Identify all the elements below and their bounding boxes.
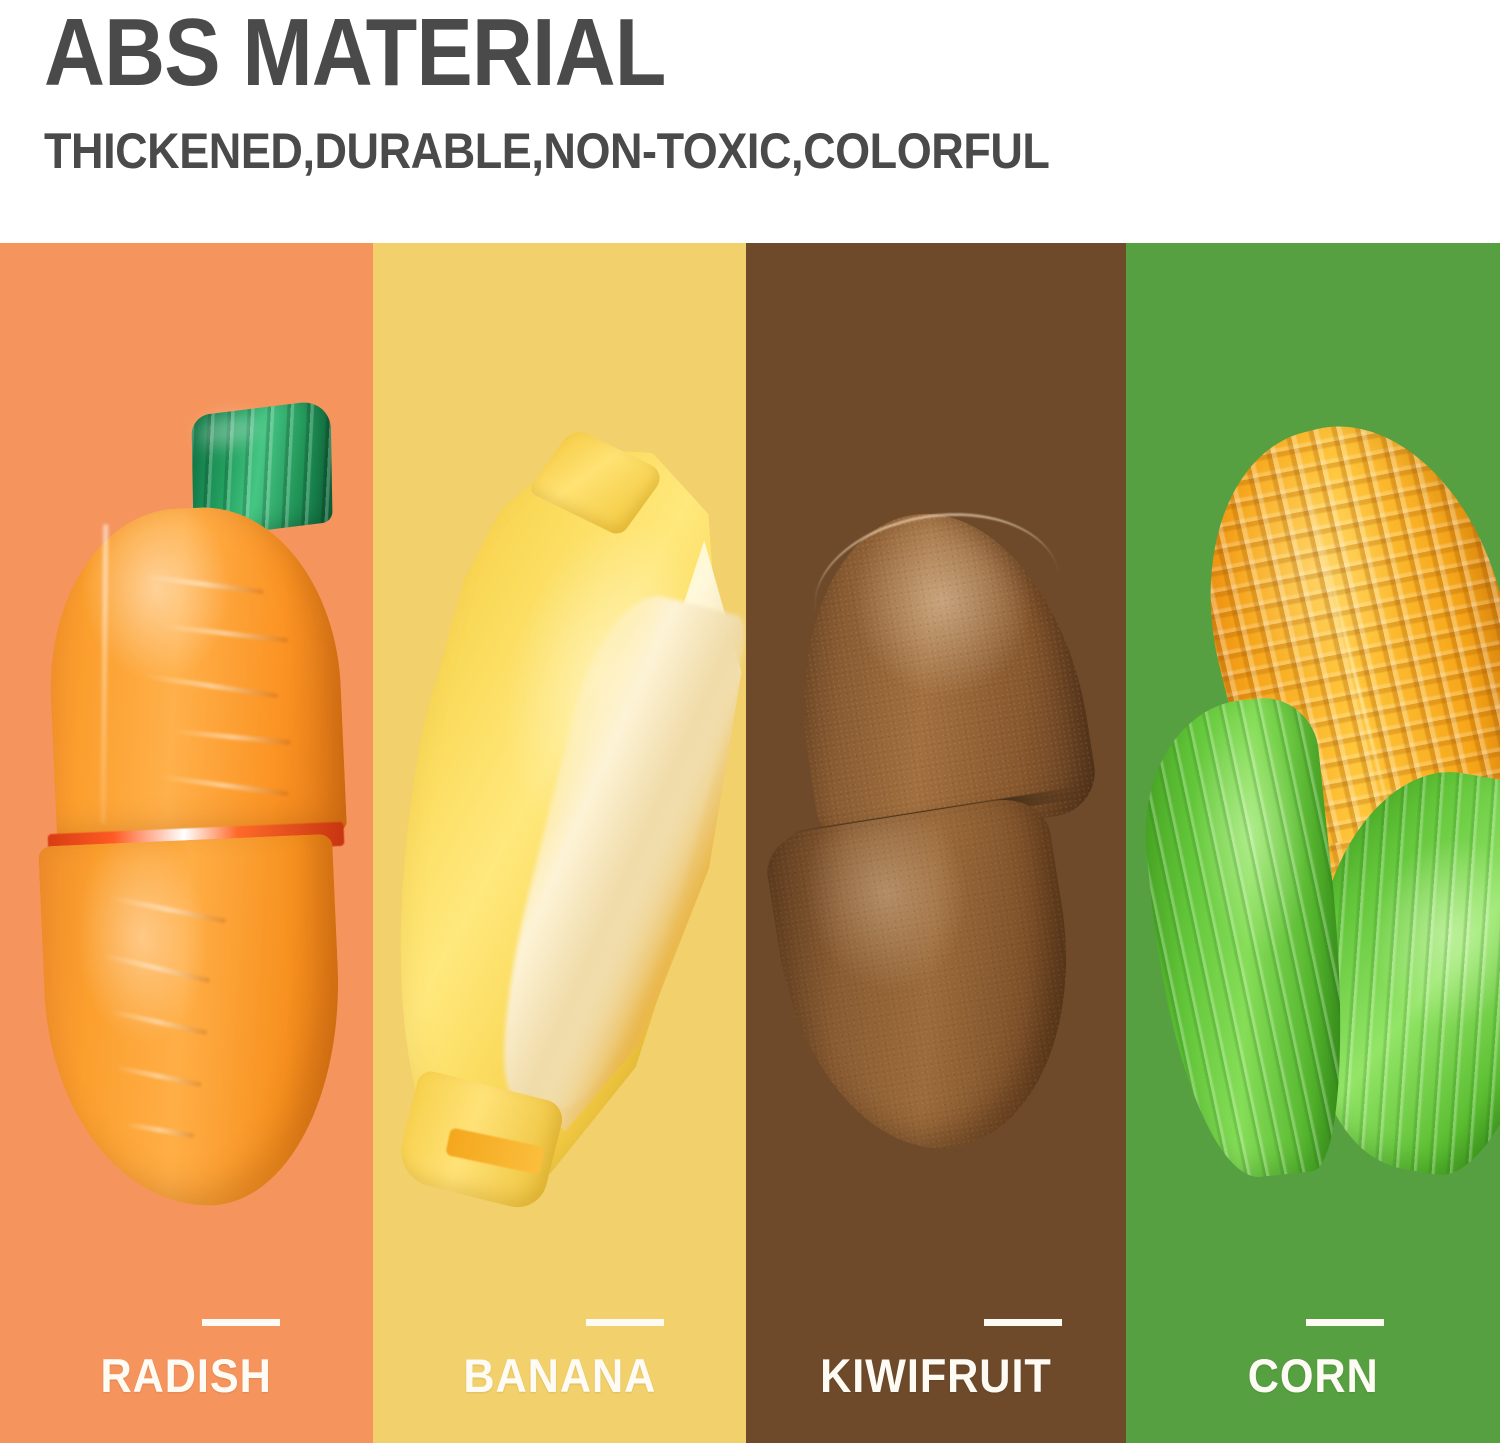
carrot-toy-icon [40, 408, 350, 1208]
carrot-upper-half [43, 502, 347, 844]
carrot-lower-half [38, 834, 348, 1212]
kiwifruit-toy-icon [782, 513, 1092, 1153]
panel-label-corn: CORN [1247, 1352, 1378, 1399]
product-panel-kiwifruit: KIWIFRUIT [746, 243, 1126, 1443]
caption-rule [984, 1319, 1062, 1326]
panel-caption-radish: RADISH [0, 1319, 373, 1399]
panel-caption-kiwifruit: KIWIFRUIT [746, 1319, 1126, 1399]
product-panel-radish: RADISH [0, 243, 373, 1443]
panel-label-kiwifruit: KIWIFRUIT [820, 1352, 1052, 1399]
caption-rule [202, 1319, 280, 1326]
product-panel-corn: CORN [1126, 243, 1500, 1443]
banana-toy-icon [395, 433, 735, 1223]
page-title: ABS MATERIAL [44, 4, 665, 102]
product-infographic: ABS MATERIAL THICKENED,DURABLE,NON-TOXIC… [0, 0, 1500, 1443]
header-banner: ABS MATERIAL THICKENED,DURABLE,NON-TOXIC… [0, 0, 1500, 243]
kiwifruit-lower-half [761, 793, 1096, 1170]
product-panel-strip: RADISH BANANA [0, 243, 1500, 1443]
caption-rule [586, 1319, 664, 1326]
corn-toy-icon [1146, 423, 1500, 1243]
panel-caption-banana: BANANA [373, 1319, 746, 1399]
product-panel-banana: BANANA [373, 243, 746, 1443]
caption-rule [1306, 1319, 1384, 1326]
panel-caption-corn: CORN [1126, 1319, 1500, 1399]
panel-label-radish: RADISH [101, 1352, 272, 1399]
panel-label-banana: BANANA [463, 1352, 656, 1399]
page-subtitle: THICKENED,DURABLE,NON-TOXIC,COLORFUL [44, 124, 1049, 178]
